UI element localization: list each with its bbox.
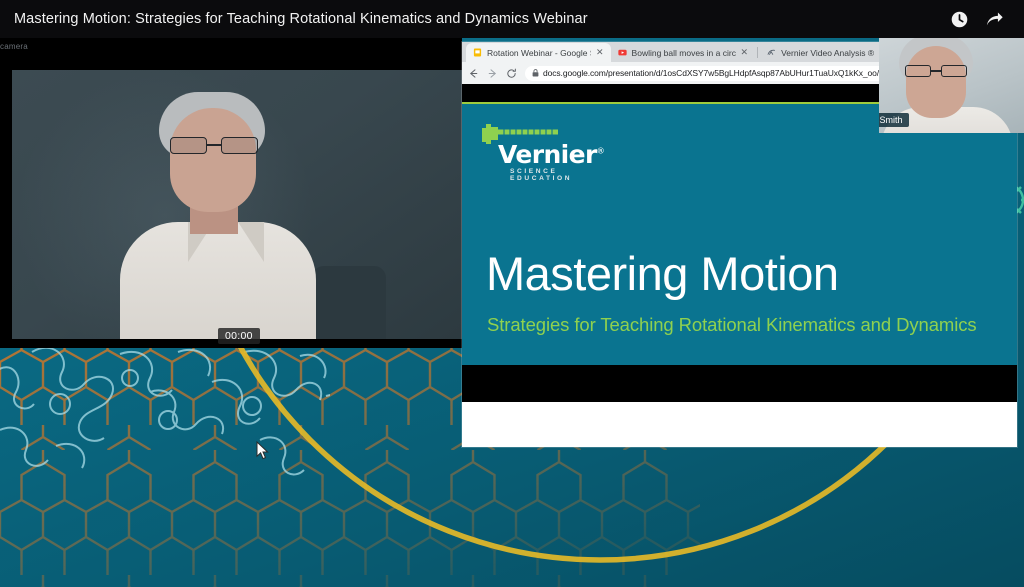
- slide-title: Mastering Motion: [486, 250, 996, 297]
- browser-tab-2[interactable]: Bowling ball moves in a circle C ✕: [611, 43, 756, 62]
- share-icon[interactable]: [985, 10, 1004, 29]
- presenter-shirt: [120, 222, 316, 339]
- browser-tab-2-label: Bowling ball moves in a circle C: [632, 48, 736, 58]
- page-title: Mastering Motion: Strategies for Teachin…: [14, 11, 950, 27]
- thumbnail-face: [906, 46, 966, 118]
- presentation-slide: Vernier® SCIENCE EDUCATION Mastering Mot…: [462, 102, 1017, 402]
- mouse-cursor: [256, 441, 269, 460]
- tab-separator: [757, 47, 758, 58]
- presenter-face: [170, 108, 256, 212]
- thumbnail-glasses-icon: [905, 65, 967, 77]
- vernier-logo: Vernier® SCIENCE EDUCATION: [480, 122, 600, 178]
- presenter-collar-right: [238, 222, 264, 262]
- presenter-thumbnail[interactable]: Tom Smith: [879, 33, 1024, 133]
- chair-back: [312, 266, 386, 339]
- main-video-tile[interactable]: camera 00:00: [0, 38, 462, 348]
- participant-name-label: Tom Smith: [879, 113, 909, 127]
- window-titlebar: Mastering Motion: Strategies for Teachin…: [0, 0, 1024, 38]
- vernier-wordmark: Vernier®: [498, 140, 604, 169]
- browser-tab-2-close-icon[interactable]: ✕: [741, 48, 749, 57]
- slide-bottom-band: [462, 365, 1017, 402]
- address-bar-url: docs.google.com/presentation/d/1osCdXSY7…: [543, 68, 897, 78]
- browser-tab-1[interactable]: Rotation Webinar - Google Slides ✕: [466, 43, 611, 62]
- browser-tab-3-label: Vernier Video Analysis ®: [781, 48, 874, 58]
- camera-label: camera: [0, 42, 28, 51]
- video-frame: [12, 70, 462, 339]
- lock-icon: [532, 69, 539, 77]
- youtube-icon: [618, 48, 627, 57]
- browser-tab-1-label: Rotation Webinar - Google Slides: [487, 48, 591, 58]
- titlebar-actions: [950, 10, 1014, 29]
- vernier-tagline: SCIENCE EDUCATION: [510, 168, 600, 182]
- webinar-screen: 01001010101101020050118 Mastering Motion…: [0, 0, 1024, 587]
- browser-tab-1-close-icon[interactable]: ✕: [596, 48, 604, 57]
- video-timestamp: 00:00: [218, 328, 260, 344]
- forward-arrow-icon[interactable]: [487, 68, 498, 79]
- glasses-icon: [170, 137, 258, 154]
- browser-tab-3[interactable]: Vernier Video Analysis ® ✕: [760, 43, 894, 62]
- slide-subtitle: Strategies for Teaching Rotational Kinem…: [487, 314, 1007, 336]
- clock-icon[interactable]: [950, 10, 969, 29]
- back-arrow-icon[interactable]: [468, 68, 479, 79]
- vernier-icon: [767, 48, 776, 57]
- reload-icon[interactable]: [506, 68, 517, 79]
- slides-icon: [473, 48, 482, 57]
